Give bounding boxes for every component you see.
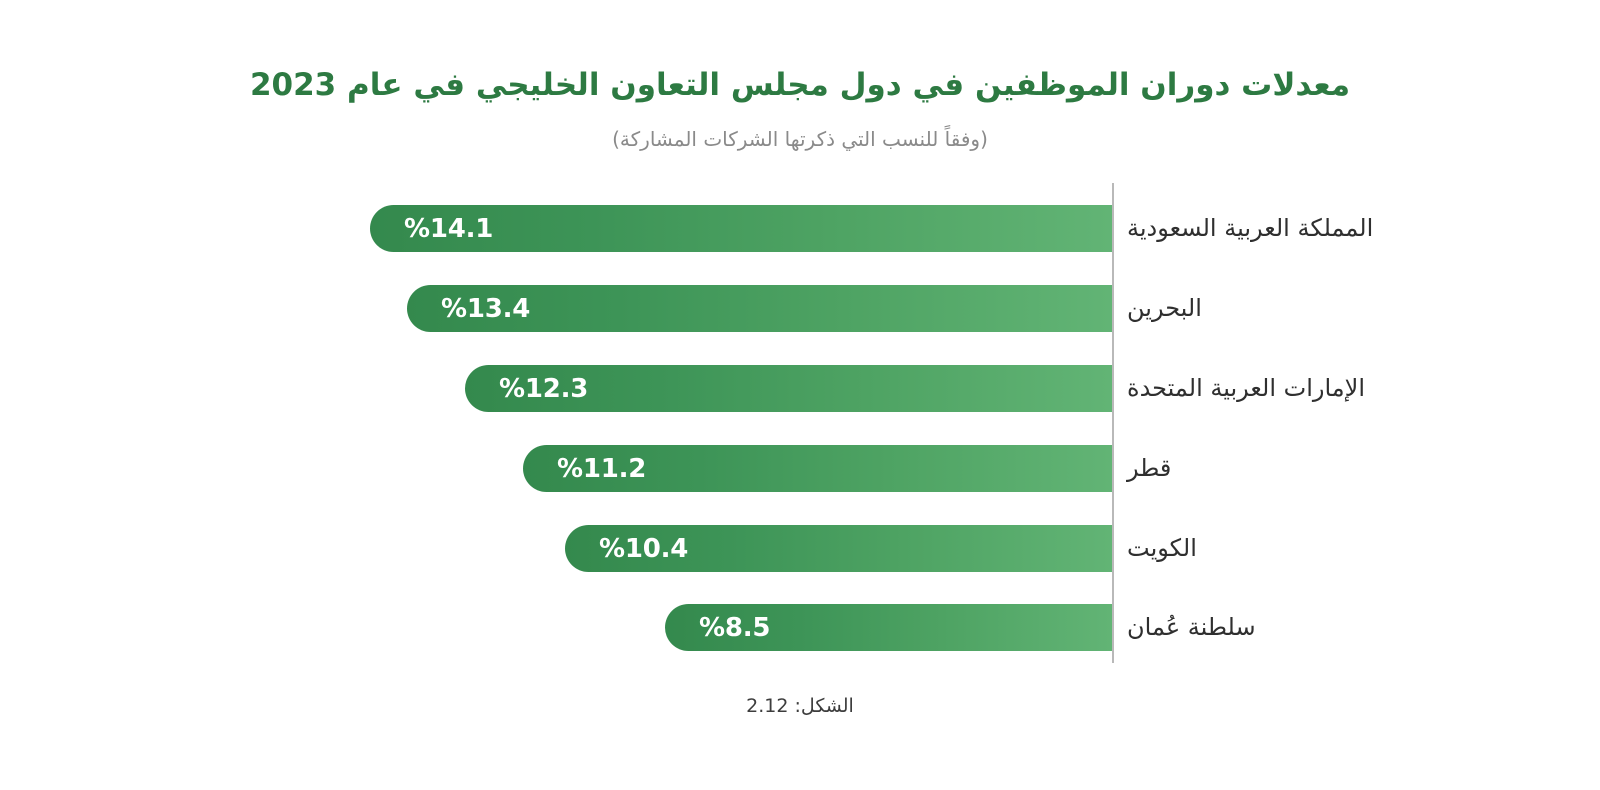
plot-area: %14.1 المملكة العربية السعودية %13.4 الب…	[0, 183, 1600, 663]
bar-kuwait[interactable]: %10.4	[565, 525, 1112, 572]
bar-oman[interactable]: %8.5	[665, 604, 1112, 651]
category-label-kuwait: الكويت	[1127, 525, 1197, 572]
bar-value-label: %8.5	[699, 613, 770, 643]
bar-value-label: %14.1	[404, 214, 493, 244]
bar-row: %13.4 البحرين	[0, 285, 1600, 332]
bar-row: %8.5 سلطنة عُمان	[0, 604, 1600, 651]
category-label-saudi-arabia: المملكة العربية السعودية	[1127, 205, 1373, 252]
bar-row: %10.4 الكويت	[0, 525, 1600, 572]
chart-subtitle: (وفقاً للنسب التي ذكرتها الشركات المشارك…	[0, 126, 1600, 152]
bar-value-label: %12.3	[499, 374, 588, 404]
category-label-bahrain: البحرين	[1127, 285, 1202, 332]
bar-row: %12.3 الإمارات العربية المتحدة	[0, 365, 1600, 412]
bar-qatar[interactable]: %11.2	[523, 445, 1112, 492]
bar-row: %11.2 قطر	[0, 445, 1600, 492]
bar-bahrain[interactable]: %13.4	[407, 285, 1112, 332]
category-label-uae: الإمارات العربية المتحدة	[1127, 365, 1365, 412]
bar-value-label: %10.4	[599, 534, 688, 564]
figure-caption: الشكل: 2.12	[0, 695, 1600, 717]
bar-saudi-arabia[interactable]: %14.1	[370, 205, 1112, 252]
category-label-qatar: قطر	[1127, 445, 1171, 492]
category-label-oman: سلطنة عُمان	[1127, 604, 1256, 651]
category-axis-line	[1112, 183, 1114, 663]
chart-title: معدلات دوران الموظفين في دول مجلس التعاو…	[0, 66, 1600, 106]
bar-value-label: %13.4	[441, 294, 530, 324]
bar-value-label: %11.2	[557, 454, 646, 484]
bar-uae[interactable]: %12.3	[465, 365, 1112, 412]
chart-figure: معدلات دوران الموظفين في دول مجلس التعاو…	[0, 0, 1600, 790]
bar-row: %14.1 المملكة العربية السعودية	[0, 205, 1600, 252]
